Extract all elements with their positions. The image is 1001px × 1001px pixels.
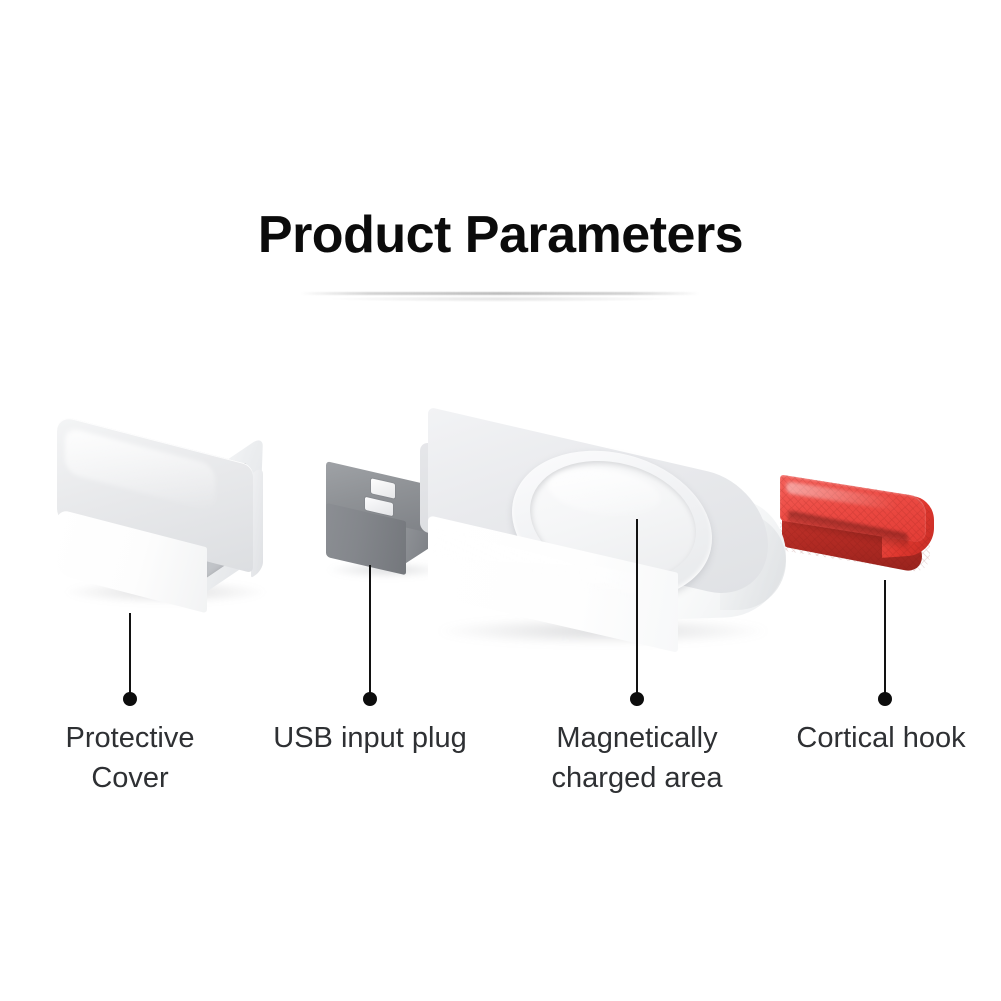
- callout-label-protective-cover: Protective Cover: [26, 718, 234, 798]
- infographic-page: Product Parameters: [0, 0, 1001, 1001]
- callout-line-protective-cover: [129, 613, 131, 699]
- callout-label-cortical-hook: Cortical hook: [775, 718, 987, 758]
- callout-dot-protective-cover: [123, 692, 137, 706]
- callout-line-magnetic-area: [636, 519, 638, 699]
- product-illustration: [0, 0, 1001, 1001]
- callout-dot-usb-plug: [363, 692, 377, 706]
- callout-dot-magnetic-area: [630, 692, 644, 706]
- protective-cover-part: [55, 432, 285, 622]
- callout-line-usb-plug: [369, 565, 371, 699]
- callout-dot-cortical-hook: [878, 692, 892, 706]
- callout-label-magnetic-area: Magnetically charged area: [525, 718, 749, 798]
- charger-body-part: [420, 440, 810, 655]
- callout-label-usb-plug: USB input plug: [258, 718, 482, 758]
- callout-line-cortical-hook: [884, 580, 886, 699]
